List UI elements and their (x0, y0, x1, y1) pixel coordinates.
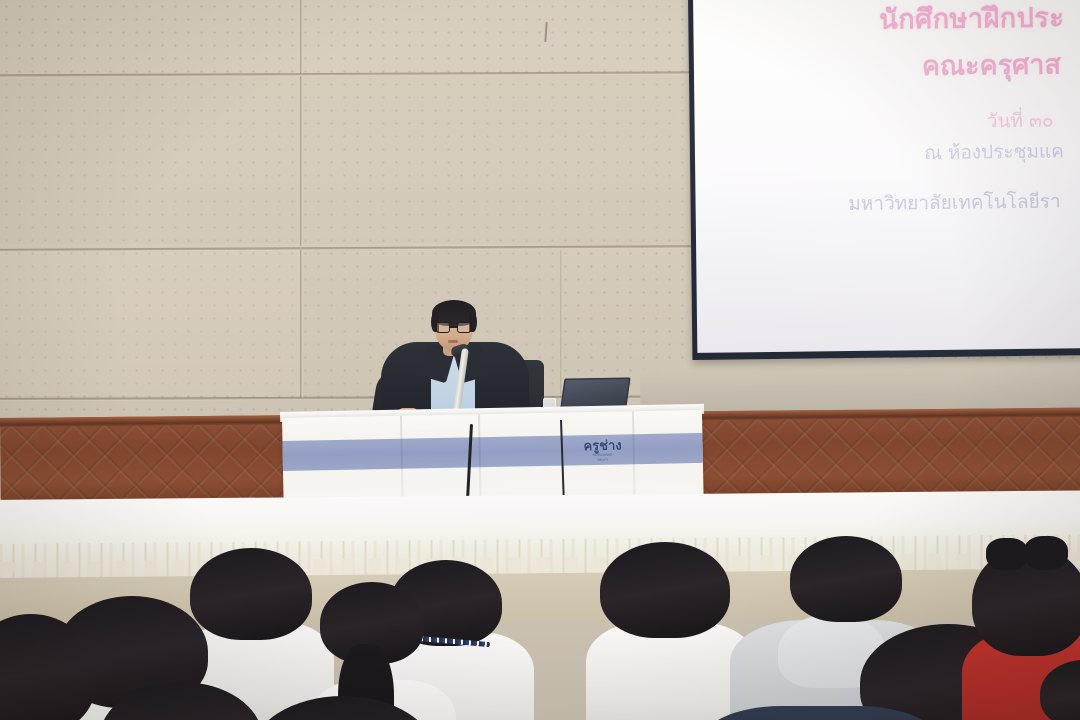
hair-bow-left (986, 538, 1028, 570)
student-front-hair-mid (250, 696, 436, 720)
slide-date-line: วันที่ ๓๐ (694, 108, 1065, 137)
student-1-hair (190, 548, 312, 640)
kruchang-logo: ครูช่าง KRUCHANG RMUTI (570, 435, 635, 466)
student-front-hair-left (100, 682, 262, 720)
list-item (600, 542, 740, 720)
projection-screen: นักศึกษาฝึกประ คณะครุศาส วันที่ ๓๐ ณ ห้อ… (688, 0, 1080, 360)
presentation-slide: นักศึกษาฝึกประ คณะครุศาส วันที่ ๓๐ ณ ห้อ… (693, 0, 1080, 353)
list-item (1040, 660, 1080, 720)
student-7-hair (790, 536, 902, 622)
kruchang-logo-subtext-2: RMUTI (598, 458, 609, 461)
list-item (0, 614, 86, 720)
presenter-mouth (448, 340, 458, 343)
eyeglass-lens-left (436, 322, 450, 333)
audience-seating (0, 520, 1080, 720)
slide-heading-line-2: คณะครุศาส (694, 48, 1065, 87)
eyeglasses-icon (435, 322, 473, 333)
panel-vertical-seam-c (300, 250, 303, 398)
slide-university-line: มหาวิทยาลัยเทคโนโลยีรา (695, 190, 1066, 219)
table-cloth-stripe (282, 433, 702, 471)
wall-scuff-mark (544, 22, 547, 42)
list-item (250, 696, 420, 720)
student-10-hair (1040, 660, 1080, 720)
student-2-hair (600, 542, 730, 638)
kruchang-logo-text: ครูช่าง (583, 440, 621, 454)
slide-heading-line-1: นักศึกษาฝึกประ (693, 1, 1064, 40)
hair-bow-right (1024, 536, 1068, 570)
eyeglass-bridge (450, 326, 457, 328)
list-item (700, 706, 900, 720)
panel-vertical-seam-a (300, 0, 303, 74)
panel-vertical-seam-d (560, 250, 563, 398)
wall-panel-lower-left (0, 250, 300, 396)
student-edge-hair (0, 614, 96, 720)
eyeglass-lens-right (457, 322, 471, 333)
slide-venue-line: ณ ห้องประชุมแค (695, 139, 1066, 168)
panel-vertical-seam-b (300, 76, 303, 246)
photo-scene: นักศึกษาฝึกประ คณะครุศาส วันที่ ๓๐ ณ ห้อ… (0, 0, 1080, 720)
list-item (100, 682, 250, 720)
projection-screen-surface: นักศึกษาฝึกประ คณะครุศาส วันที่ ๓๐ ณ ห้อ… (693, 0, 1080, 353)
